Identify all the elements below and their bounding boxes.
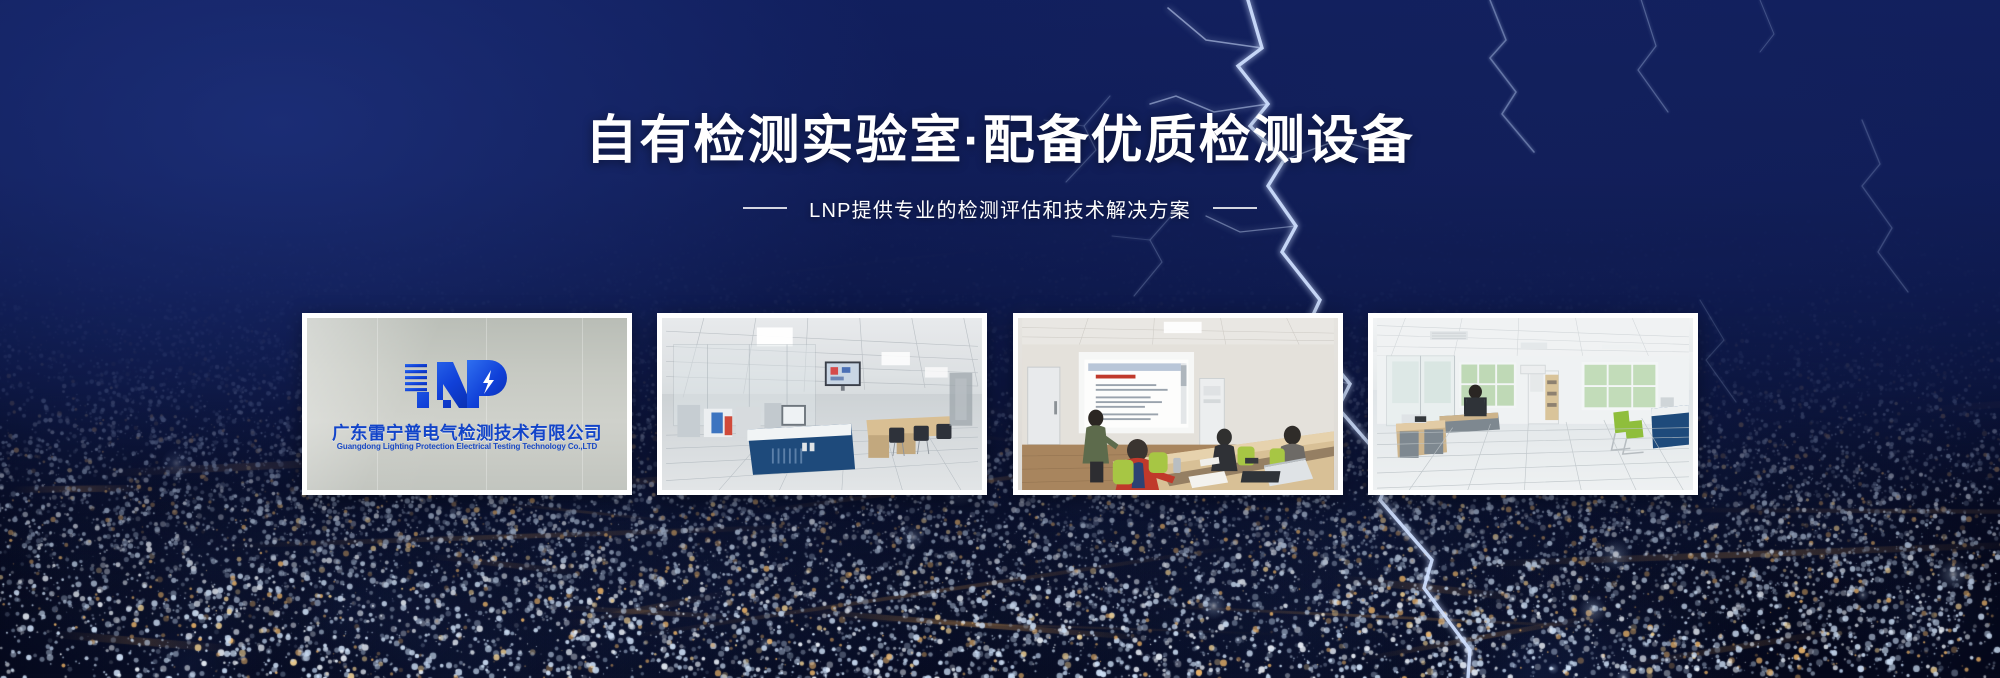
left-dash-rule (743, 207, 787, 209)
photo-card-testing-laboratory[interactable] (657, 313, 987, 495)
meeting-room-scene (1018, 318, 1338, 490)
wall-seam (582, 318, 583, 490)
hero-banner: 自有检测实验室·配备优质检测设备 LNP提供专业的检测评估和技术解决方案 (0, 0, 2000, 678)
office-detail-overlay (1373, 318, 1693, 490)
photo-card-row: 广东雷宁普电气检测技术有限公司 Guangdong Lighting Prote… (302, 313, 1698, 495)
right-dash-rule (1213, 207, 1257, 209)
photo-card-training-meeting-room[interactable] (1013, 313, 1343, 495)
lab-scene (662, 318, 982, 490)
page-subtitle: LNP提供专业的检测评估和技术解决方案 (809, 194, 1191, 223)
photo-testing-laboratory (662, 318, 982, 490)
photo-office-area (1373, 318, 1693, 490)
subtitle-row: LNP提供专业的检测评估和技术解决方案 (0, 194, 2000, 223)
signage-english-text: Guangdong Lighting Protection Electrical… (307, 442, 627, 451)
lnp-logo-icon (403, 354, 515, 416)
office-scene (1373, 318, 1693, 490)
hero-text-block: 自有检测实验室·配备优质检测设备 LNP提供专业的检测评估和技术解决方案 (0, 0, 2000, 223)
photo-card-company-signage[interactable]: 广东雷宁普电气检测技术有限公司 Guangdong Lighting Prote… (302, 313, 632, 495)
page-title: 自有检测实验室·配备优质检测设备 (0, 112, 2000, 172)
wall-seam (377, 318, 378, 490)
photo-training-meeting-room (1018, 318, 1338, 490)
lab-detail-overlay (662, 318, 982, 490)
photo-card-office-area[interactable] (1368, 313, 1698, 495)
meeting-room-detail-overlay (1018, 318, 1338, 490)
photo-company-signage: 广东雷宁普电气检测技术有限公司 Guangdong Lighting Prote… (307, 318, 627, 490)
